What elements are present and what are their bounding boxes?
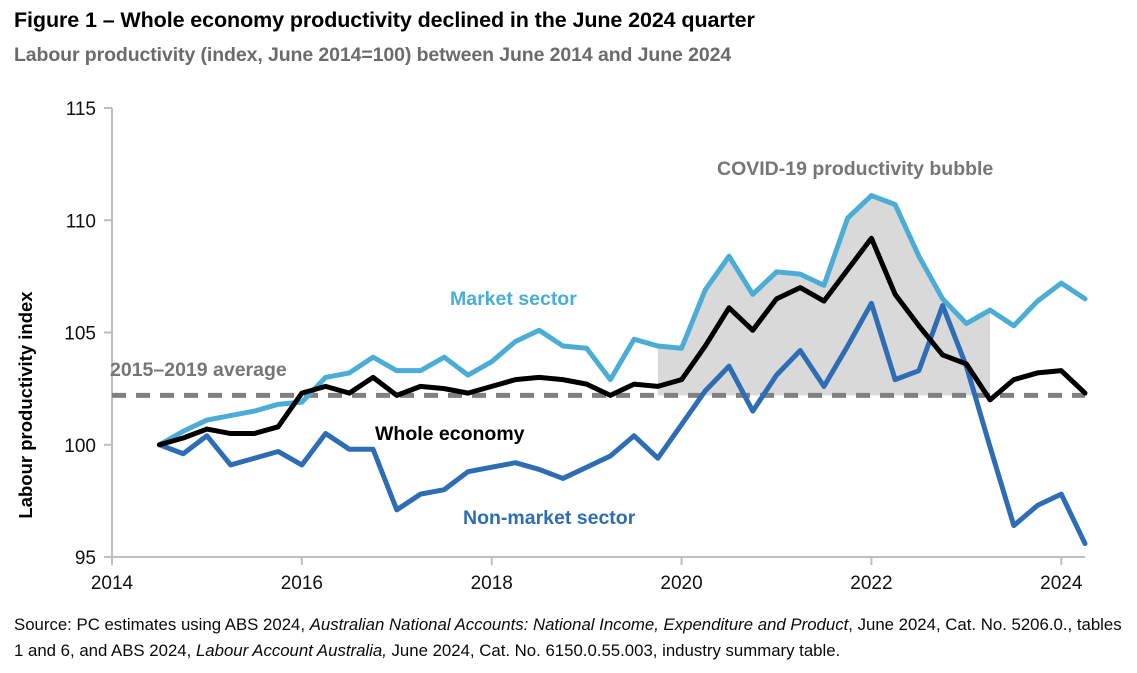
y-axis-tick-label: 105 bbox=[64, 324, 96, 345]
y-axis-title: Labour productivity index bbox=[15, 291, 36, 519]
source-italic-publication-1: Australian National Accounts: National I… bbox=[310, 615, 849, 634]
figure-title: Figure 1 – Whole economy productivity de… bbox=[14, 8, 755, 33]
x-axis-tick-label: 2016 bbox=[281, 573, 323, 594]
source-italic-publication-2: Labour Account Australia, bbox=[196, 641, 387, 660]
source-suffix: June 2024, Cat. No. 6150.0.55.003, indus… bbox=[387, 641, 840, 660]
annotation-non-market-sector: Non-market sector bbox=[463, 507, 636, 529]
y-axis-tick-label: 110 bbox=[66, 211, 96, 232]
y-axis-tick-label: 95 bbox=[75, 548, 96, 569]
x-axis-tick-label: 2014 bbox=[91, 573, 134, 594]
y-axis-tick-label: 115 bbox=[66, 99, 96, 120]
y-axis-ticks: 95100105110115 bbox=[64, 99, 112, 569]
annotation-market-sector: Market sector bbox=[450, 288, 577, 310]
x-axis-tick-label: 2018 bbox=[471, 573, 513, 594]
figure-subtitle: Labour productivity (index, June 2014=10… bbox=[14, 44, 731, 67]
x-axis-tick-label: 2020 bbox=[660, 573, 702, 594]
x-axis-tick-label: 2024 bbox=[1040, 573, 1083, 594]
productivity-line-chart: 95100105110115 201420162018202020222024 … bbox=[0, 80, 1137, 600]
annotation-whole-economy: Whole economy bbox=[375, 423, 525, 445]
source-prefix: Source: PC estimates using ABS 2024, bbox=[14, 615, 310, 634]
figure-page: Figure 1 – Whole economy productivity de… bbox=[0, 0, 1137, 673]
x-axis-ticks: 201420162018202020222024 bbox=[91, 557, 1083, 594]
source-note: Source: PC estimates using ABS 2024, Aus… bbox=[14, 612, 1126, 663]
annotation-average-label: 2015–2019 average bbox=[110, 359, 287, 381]
chart-area: 95100105110115 201420162018202020222024 … bbox=[0, 80, 1137, 600]
x-axis-tick-label: 2022 bbox=[850, 573, 892, 594]
y-axis-tick-label: 100 bbox=[64, 436, 96, 457]
annotation-covid-bubble: COVID-19 productivity bubble bbox=[717, 158, 993, 180]
